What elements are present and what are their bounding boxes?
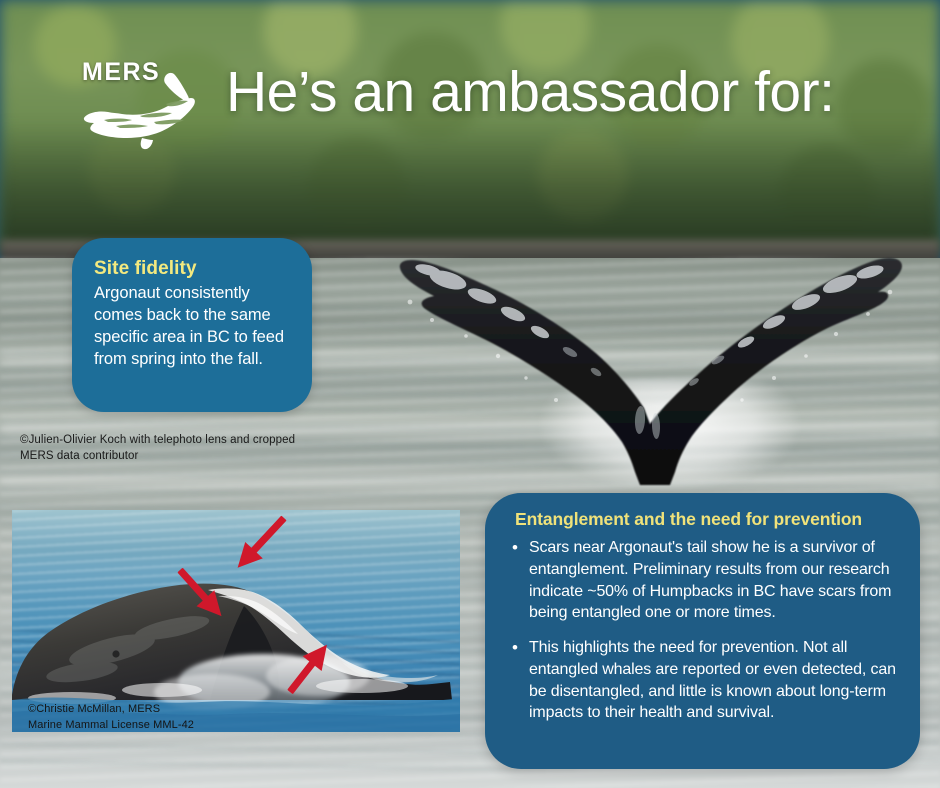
humpback-whale-icon [78, 70, 210, 150]
poster-canvas: MERS He’s an ambassador for: [0, 0, 940, 788]
photo-credit-top-line1: ©Julien-Olivier Koch with telephoto lens… [20, 432, 295, 448]
scar-annotation-arrows [12, 510, 460, 732]
site-fidelity-card: Site fidelity Argonaut consistently come… [72, 238, 312, 412]
list-item: Scars near Argonaut's tail show he is a … [503, 537, 898, 624]
entanglement-panel: Entanglement and the need for prevention… [485, 493, 920, 769]
site-fidelity-body: Argonaut consistently comes back to the … [94, 283, 290, 371]
site-fidelity-title: Site fidelity [94, 258, 290, 280]
page-title: He’s an ambassador for: [226, 64, 834, 121]
humpback-fluke-icon [370, 240, 940, 490]
list-item: This highlights the need for prevention.… [503, 637, 898, 724]
entanglement-bullet-list: Scars near Argonaut's tail show he is a … [503, 537, 898, 724]
photo-credit-inset-line2: Marine Mammal License MML-42 [28, 718, 194, 732]
entanglement-scar-photo: ©Christie McMillan, MERS Marine Mammal L… [12, 510, 460, 732]
entanglement-panel-title: Entanglement and the need for prevention [515, 509, 898, 530]
photo-credit-top: ©Julien-Olivier Koch with telephoto lens… [20, 432, 295, 465]
photo-credit-inset: ©Christie McMillan, MERS Marine Mammal L… [28, 702, 194, 732]
mers-logo[interactable]: MERS [78, 56, 210, 151]
poster-header: MERS He’s an ambassador for: [0, 40, 940, 150]
photo-credit-inset-line1: ©Christie McMillan, MERS [28, 702, 194, 718]
photo-credit-top-line2: MERS data contributor [20, 448, 295, 464]
whale-fluke-photo [370, 240, 940, 490]
